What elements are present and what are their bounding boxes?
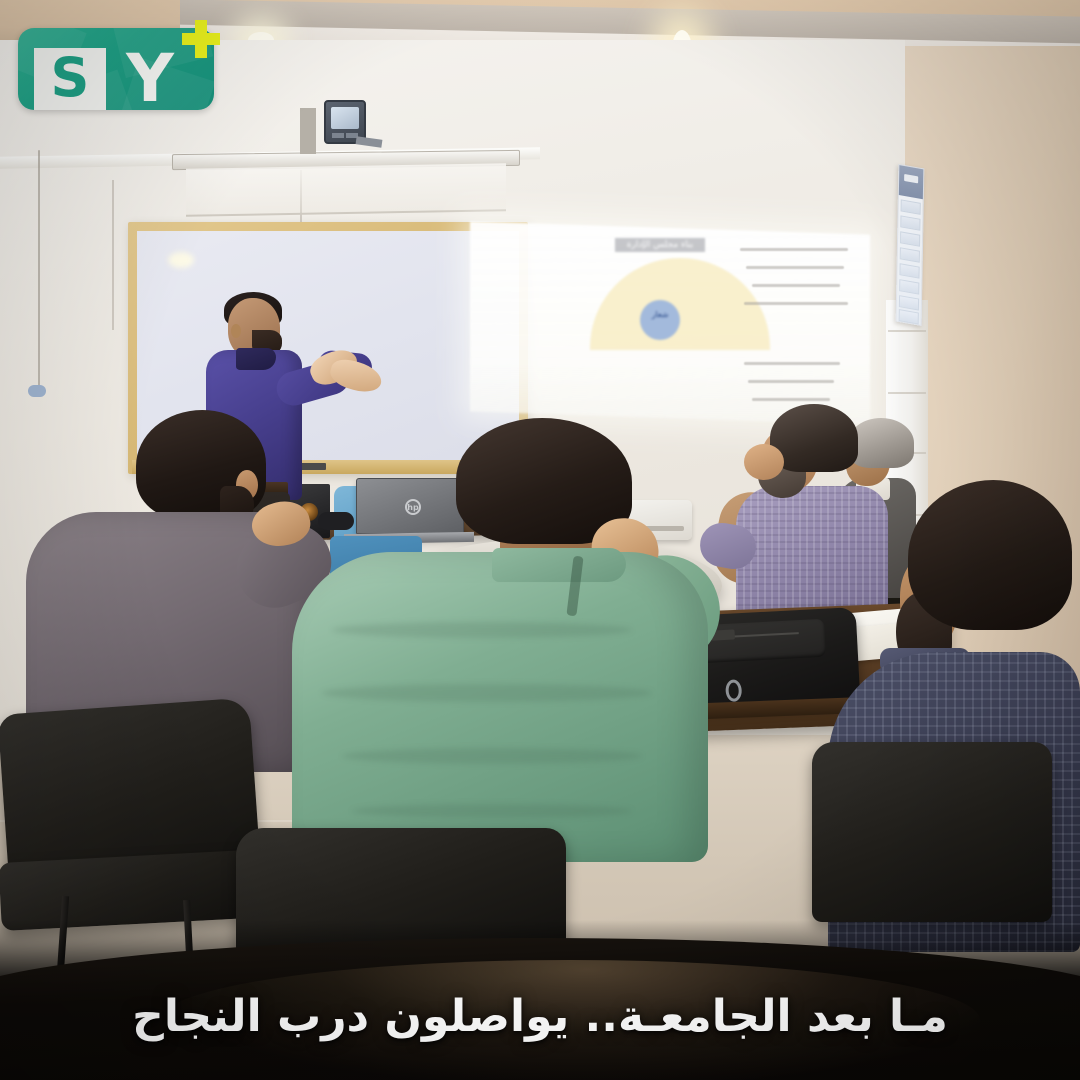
cable-plug	[28, 385, 46, 397]
slide-bullet	[744, 362, 840, 365]
logo-letter-y: Y	[114, 44, 186, 110]
floodlight-lens	[331, 107, 359, 129]
office-chair-right	[812, 742, 1052, 922]
brick-seam	[888, 392, 926, 394]
whiteboard-marker-clip	[300, 463, 326, 470]
poster-row	[899, 295, 919, 310]
whiteboard-glare	[168, 252, 194, 268]
logo-s-box: S	[34, 48, 106, 110]
poster-row	[899, 263, 919, 278]
attendee-torso	[292, 552, 708, 862]
slide-bullet	[740, 248, 848, 251]
slide-seal-text: شعار	[640, 300, 680, 340]
attendee-hand-on-chin	[744, 444, 784, 480]
slide-bullet	[744, 302, 848, 305]
slide-bullet	[752, 284, 840, 287]
poster-row	[900, 231, 920, 246]
projector-screen-housing	[186, 163, 506, 217]
logo-plus-icon	[182, 20, 220, 58]
wall-crack	[112, 180, 114, 330]
slide-header-text: بناء مجلس الإدارة	[615, 238, 705, 252]
slide-header: بناء مجلس الإدارة	[615, 238, 705, 252]
slide-seal: شعار	[640, 300, 680, 340]
poster-row	[901, 199, 921, 214]
logo-letter-s: S	[34, 48, 106, 110]
brick-seam	[888, 330, 926, 332]
slide-bullet	[748, 380, 834, 383]
attendee-hair	[908, 480, 1072, 630]
poster-row	[900, 247, 920, 262]
cable-bundle	[318, 512, 354, 530]
video-frame: بناء مجلس الإدارة شعار hp	[0, 0, 1080, 1080]
poster-header	[899, 165, 924, 199]
channel-logo: S Y	[18, 18, 214, 110]
slide-bullet	[752, 398, 830, 401]
hp-laptop: hp	[356, 478, 464, 534]
hp-logo-icon: hp	[405, 499, 421, 515]
wall-cable	[38, 150, 40, 390]
presenter-ear	[231, 324, 241, 338]
floodlight-bracket	[300, 108, 316, 154]
wall-poster	[896, 164, 925, 326]
poster-row	[900, 215, 920, 230]
presenter-collar	[236, 348, 276, 370]
attendee-polo-collar	[492, 548, 626, 582]
slide-bullet	[746, 266, 844, 269]
poster-row	[899, 279, 919, 294]
bag-strap-ring	[725, 679, 742, 702]
video-caption: مـا بعد الجامعـة.. يواصلون درب النجاح	[0, 986, 1080, 1048]
poster-row	[899, 309, 919, 324]
floodlight-tab	[332, 133, 344, 138]
office-chair-left-seat	[0, 849, 272, 931]
